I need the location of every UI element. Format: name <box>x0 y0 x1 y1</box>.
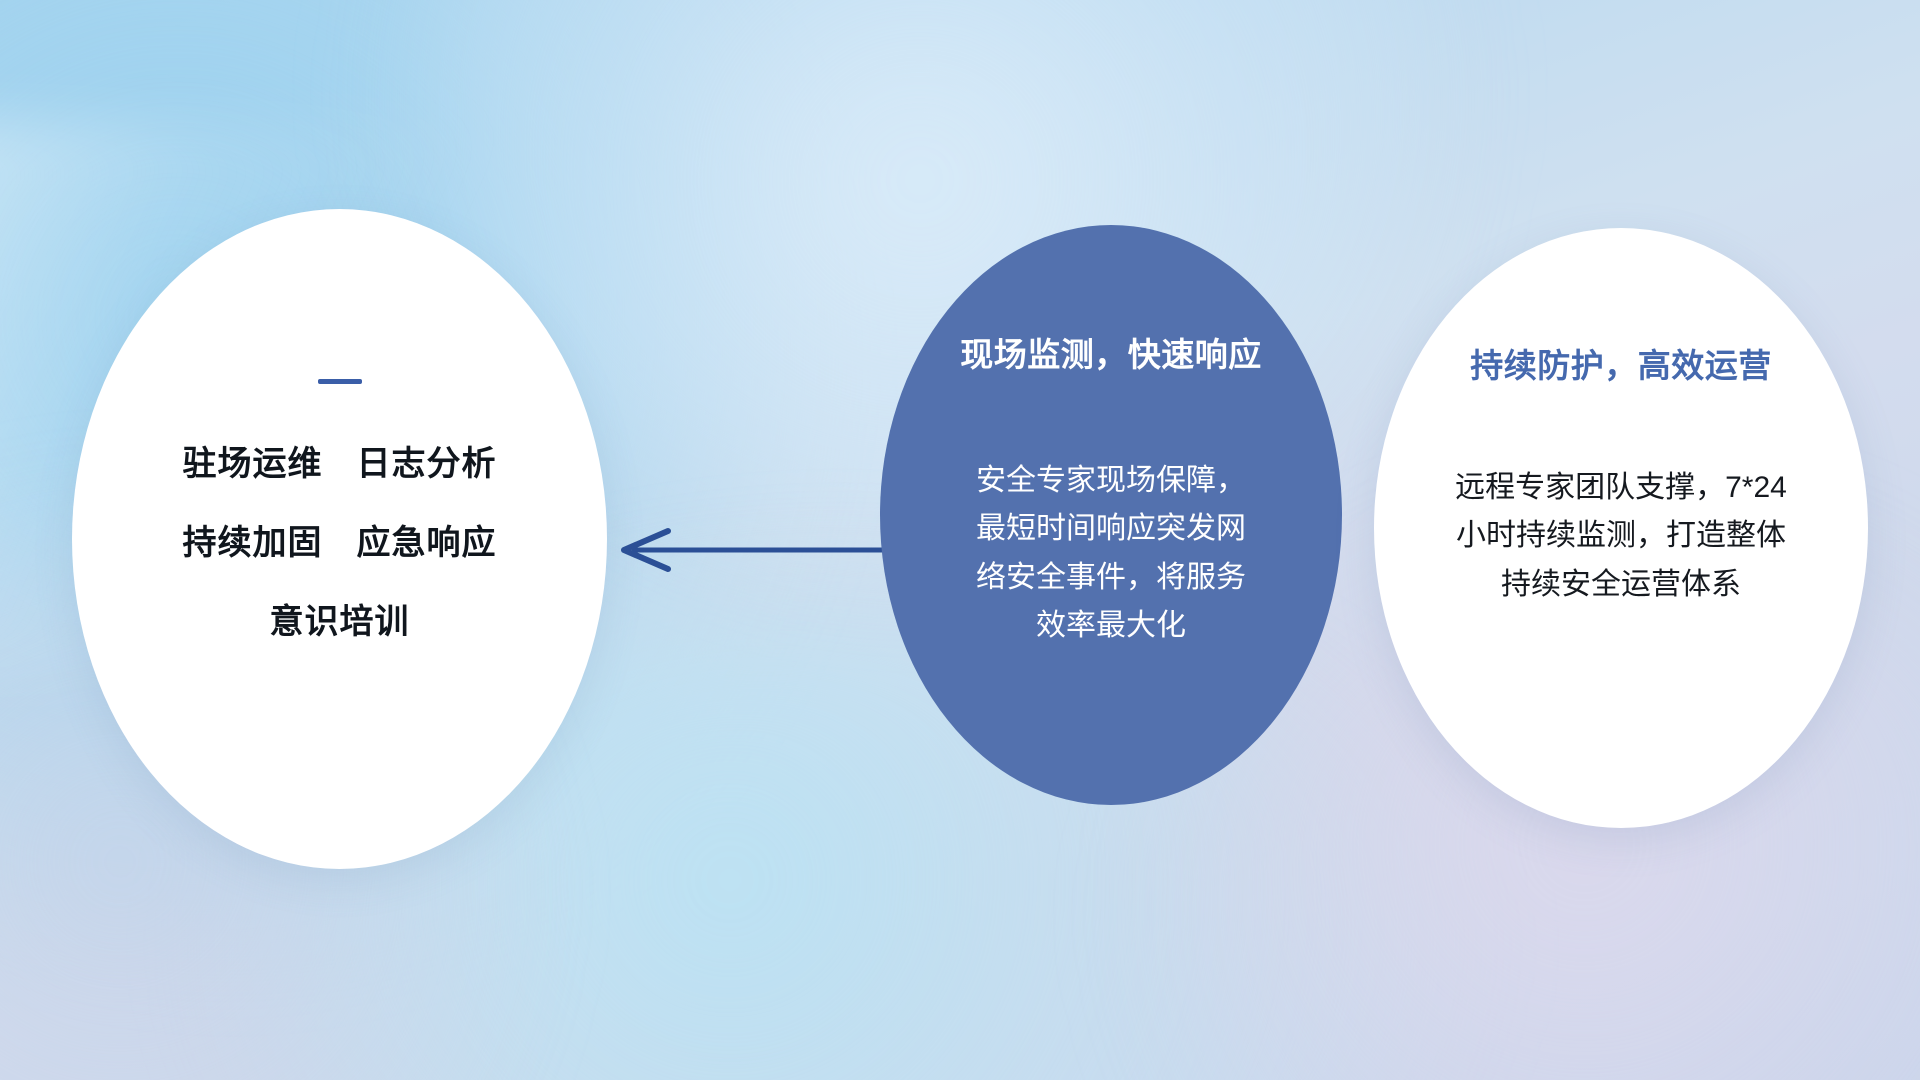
capability-bubble-middle[interactable]: 现场监测，快速响应 安全专家现场保障， 最短时间响应突发网 络安全事件，将服务 … <box>880 225 1342 805</box>
capability-bubble-left[interactable]: 驻场运维 日志分析 持续加固 应急响应 意识培训 <box>72 209 607 869</box>
keyword-row: 驻场运维 日志分析 <box>183 436 497 485</box>
bubble-body-middle: 安全专家现场保障， 最短时间响应突发网 络安全事件，将服务 效率最大化 <box>946 457 1276 651</box>
keyword-list: 驻场运维 日志分析 持续加固 应急响应 意识培训 <box>72 436 607 643</box>
keyword-row: 持续加固 应急响应 <box>183 515 497 564</box>
keyword-item: 意识培训 <box>270 594 410 643</box>
keyword-row: 意识培训 <box>270 594 410 643</box>
keyword-item: 日志分析 <box>357 436 497 485</box>
capability-bubble-right[interactable]: 持续防护，高效运营 远程专家团队支撑，7*24 小时持续监测，打造整体 持续安全… <box>1374 228 1868 828</box>
slide-canvas: 驻场运维 日志分析 持续加固 应急响应 意识培训 现场监测，快速响应 安全专家现… <box>0 0 1920 1080</box>
keyword-item: 持续加固 <box>183 515 323 564</box>
divider-dash <box>318 379 362 384</box>
keyword-item: 驻场运维 <box>183 436 323 485</box>
bubble-title-middle: 现场监测，快速响应 <box>960 335 1262 375</box>
bubble-body-right: 远程专家团队支撑，7*24 小时持续监测，打造整体 持续安全运营体系 <box>1426 464 1816 610</box>
bubble-title-right: 持续防护，高效运营 <box>1470 346 1772 386</box>
keyword-item: 应急响应 <box>357 515 497 564</box>
